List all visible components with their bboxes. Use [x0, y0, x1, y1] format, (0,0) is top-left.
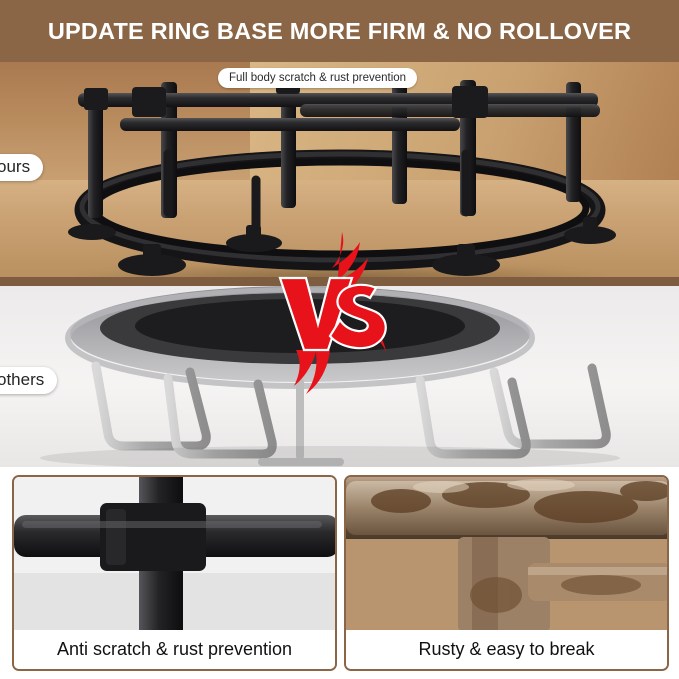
panel-left-image [14, 477, 335, 632]
label-ours: ours [0, 154, 43, 181]
black-joint-closeup-illustration [14, 477, 335, 632]
panel-right-image [346, 477, 667, 632]
panel-right-caption: Rusty & easy to break [346, 630, 667, 669]
others-product-photo [0, 286, 679, 467]
section-divider [0, 277, 679, 286]
comparison-panels: Anti scratch & rust prevention [0, 467, 679, 679]
page-title: UPDATE RING BASE MORE FIRM & NO ROLLOVER [0, 0, 679, 62]
rusty-joint-closeup-illustration [346, 477, 667, 632]
competitor-trampoline-illustration [0, 286, 679, 467]
panel-others-joint: Rusty & easy to break [344, 475, 669, 671]
panel-left-caption: Anti scratch & rust prevention [14, 630, 335, 669]
product-comparison-infographic: UPDATE RING BASE MORE FIRM & NO ROLLOVER [0, 0, 679, 679]
label-others: others [0, 367, 57, 394]
trampoline-ring-base-illustration [0, 62, 679, 280]
ours-product-photo: Full body scratch & rust prevention [0, 62, 679, 280]
feature-badge: Full body scratch & rust prevention [218, 68, 417, 88]
panel-ours-joint: Anti scratch & rust prevention [12, 475, 337, 671]
